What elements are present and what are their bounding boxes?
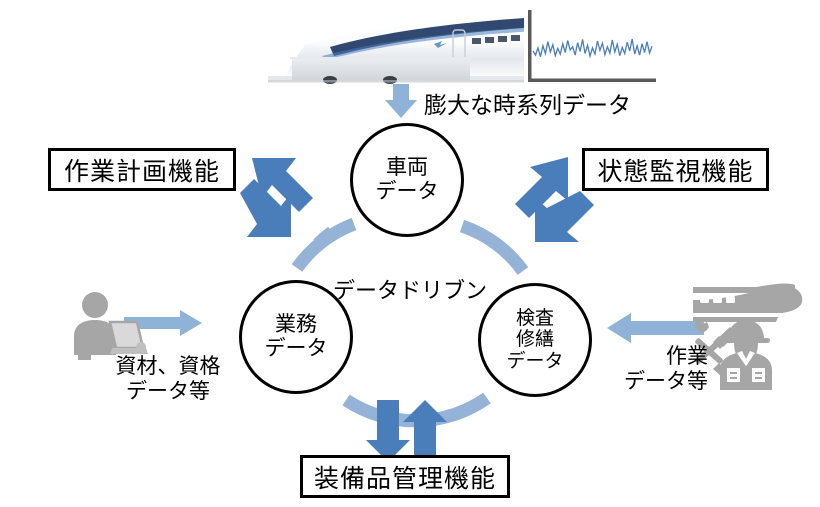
caption-work-data: 作業 データ等: [596, 345, 708, 395]
box-equipment-management-function-label: 装備品管理機能: [314, 459, 496, 495]
caption-materials-data-line2: データ等: [98, 380, 238, 405]
circle-inspection-repair-data-line2: 修繕: [516, 329, 554, 350]
circle-inspection-repair-data-line3: データ: [506, 351, 563, 372]
train-icon: [693, 284, 802, 322]
circle-vehicle-data-line2: データ: [376, 180, 439, 204]
circle-vehicle-data[interactable]: 車両 データ: [350, 123, 464, 237]
time-series-flow-arrow: [385, 84, 417, 118]
circle-vehicle-data-line1: 車両: [386, 156, 428, 180]
caption-time-series-data: 膨大な時系列データ: [424, 86, 631, 120]
circle-inspection-repair-data[interactable]: 検査 修繕 データ: [478, 283, 592, 397]
center-caption-data-driven: データドリブン: [333, 273, 487, 305]
caption-materials-data-line1: 資材、資格: [98, 355, 238, 380]
work-planning-double-arrow: [240, 158, 313, 237]
box-condition-monitoring-function[interactable]: 状態監視機能: [582, 148, 769, 191]
office-worker-with-laptop-icon: [74, 292, 148, 360]
equipment-management-double-arrow: [366, 400, 447, 462]
caption-work-data-line1: 作業: [596, 345, 708, 370]
diagram-canvas: 車両 データ 業務 データ 検査 修繕 データ データドリブン 作業計画機能 状…: [0, 0, 820, 507]
circle-business-data-line1: 業務: [275, 313, 317, 337]
box-work-planning-function-label: 作業計画機能: [64, 152, 220, 188]
caption-work-data-line2: データ等: [596, 370, 708, 395]
diagram-vector-layer: [0, 0, 820, 507]
caption-materials-data: 資材、資格 データ等: [98, 355, 238, 405]
box-work-planning-function[interactable]: 作業計画機能: [48, 148, 236, 191]
box-equipment-management-function[interactable]: 装備品管理機能: [300, 455, 510, 498]
circle-inspection-repair-data-line1: 検査: [516, 308, 554, 329]
shinkansen-train-photo: [268, 11, 556, 84]
box-condition-monitoring-function-label: 状態監視機能: [597, 152, 753, 188]
circle-business-data-line2: データ: [265, 337, 328, 361]
work-data-flow-arrow: [607, 313, 704, 343]
waveform-chart: [524, 8, 660, 86]
